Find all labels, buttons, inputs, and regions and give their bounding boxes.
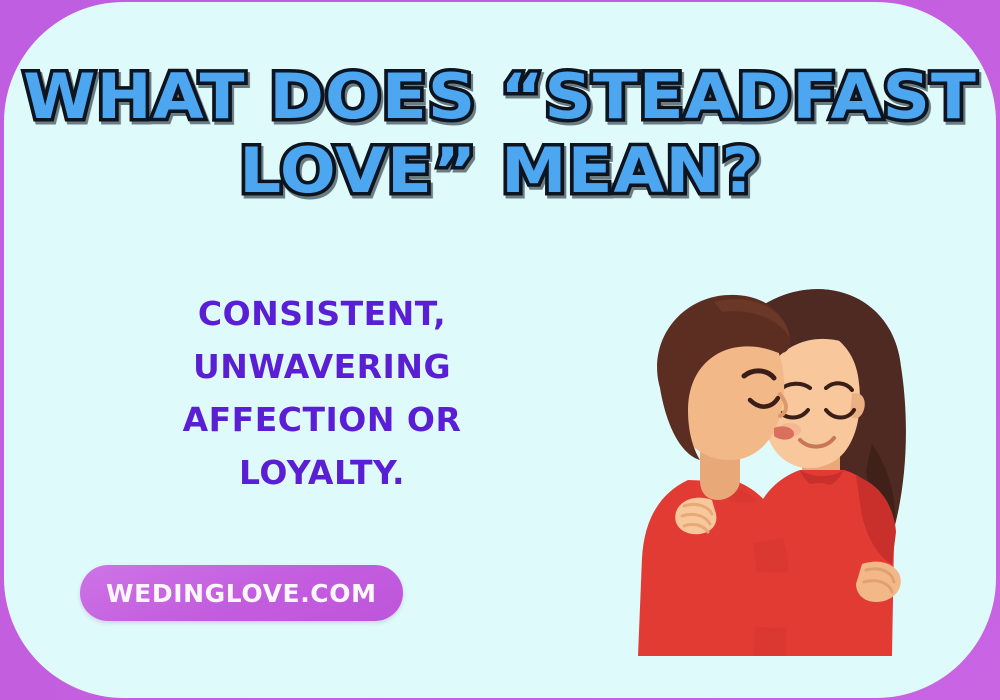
title-line-2: LOVE” MEAN? bbox=[4, 134, 996, 208]
poster-card: WHAT DOES “STEADFAST LOVE” MEAN? CONSIST… bbox=[0, 0, 1000, 700]
definition-line-2: UNWAVERING bbox=[62, 340, 582, 393]
website-badge[interactable]: WEDINGLOVE.COM bbox=[80, 565, 403, 621]
definition-line-4: LOYALTY. bbox=[62, 446, 582, 499]
definition-line-1: CONSISTENT, bbox=[62, 287, 582, 340]
content-panel: WHAT DOES “STEADFAST LOVE” MEAN? CONSIST… bbox=[4, 2, 996, 698]
definition-line-3: AFFECTION OR bbox=[62, 393, 582, 446]
title-line-1: WHAT DOES “STEADFAST bbox=[4, 60, 996, 134]
website-badge-label: WEDINGLOVE.COM bbox=[106, 579, 377, 608]
page-title: WHAT DOES “STEADFAST LOVE” MEAN? bbox=[4, 60, 996, 208]
couple-embracing-kiss-icon bbox=[604, 264, 944, 664]
definition-text: CONSISTENT, UNWAVERING AFFECTION OR LOYA… bbox=[62, 287, 582, 499]
